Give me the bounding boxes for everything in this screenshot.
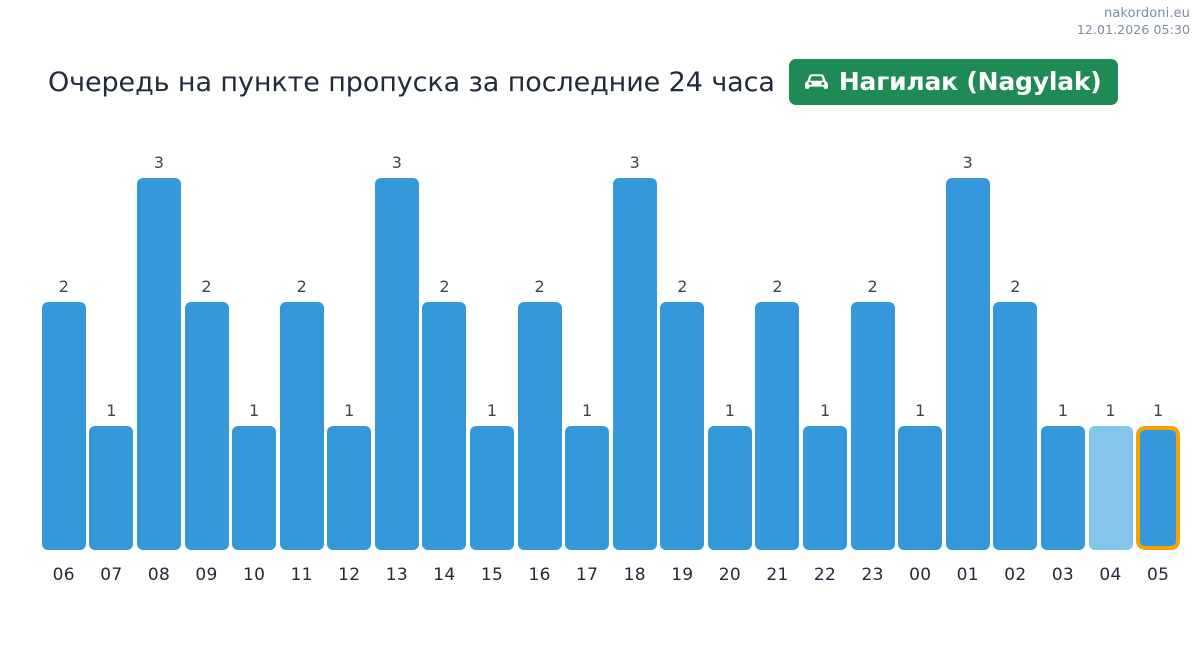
- bar-value-label: 1: [725, 403, 735, 419]
- bar-slot[interactable]: 2: [754, 138, 802, 550]
- x-axis-tick: 16: [516, 565, 564, 585]
- x-axis-tick: 06: [40, 565, 88, 585]
- x-axis-tick: 04: [1087, 565, 1135, 585]
- bar[interactable]: [185, 302, 229, 550]
- x-axis-tick: 12: [325, 565, 373, 585]
- x-axis-tick: 11: [278, 565, 326, 585]
- bar-value-label: 1: [1058, 403, 1068, 419]
- bar-slot[interactable]: 1: [325, 138, 373, 550]
- bar-value-label: 2: [677, 279, 687, 295]
- header-row: Очередь на пункте пропуска за последние …: [48, 58, 1160, 106]
- bar-slot[interactable]: 2: [421, 138, 469, 550]
- bar-value-label: 2: [297, 279, 307, 295]
- bar-slot[interactable]: 1: [801, 138, 849, 550]
- bar[interactable]: [851, 302, 895, 550]
- bar-slot[interactable]: 1: [230, 138, 278, 550]
- bar-value-label: 3: [392, 155, 402, 171]
- bar-slot[interactable]: 2: [40, 138, 88, 550]
- checkpoint-name: Нагилак (Nagylak): [839, 67, 1102, 96]
- bar-value-label: 2: [868, 279, 878, 295]
- bar[interactable]: [375, 178, 419, 550]
- bar-value-label: 2: [772, 279, 782, 295]
- bar-slot[interactable]: 1: [1039, 138, 1087, 550]
- x-axis-tick: 14: [421, 565, 469, 585]
- bar-chart-plot: 213212132121321212132111: [40, 130, 1182, 550]
- bar[interactable]: [42, 302, 86, 550]
- bar[interactable]: [898, 426, 942, 550]
- bar-value-label: 1: [487, 403, 497, 419]
- bar-slot[interactable]: 2: [278, 138, 326, 550]
- bar[interactable]: [803, 426, 847, 550]
- x-axis-tick: 10: [230, 565, 278, 585]
- bar-value-label: 1: [820, 403, 830, 419]
- bar-slot[interactable]: 1: [563, 138, 611, 550]
- bar[interactable]: [89, 426, 133, 550]
- bar[interactable]: [137, 178, 181, 550]
- x-axis-tick: 19: [659, 565, 707, 585]
- bar-value-label: 2: [1010, 279, 1020, 295]
- x-axis-tick: 01: [944, 565, 992, 585]
- bar[interactable]: [660, 302, 704, 550]
- x-axis-tick: 13: [373, 565, 421, 585]
- x-axis-tick: 20: [706, 565, 754, 585]
- bar-slot[interactable]: 1: [1087, 138, 1135, 550]
- bar-series: 213212132121321212132111: [40, 138, 1182, 550]
- bar-value-label: 1: [582, 403, 592, 419]
- bar-slot[interactable]: 1: [706, 138, 754, 550]
- bar-slot[interactable]: 2: [849, 138, 897, 550]
- bar-slot[interactable]: 3: [944, 138, 992, 550]
- bar-slot[interactable]: 3: [135, 138, 183, 550]
- bar-slot[interactable]: 2: [516, 138, 564, 550]
- x-axis: 0607080910111213141516171819202122230001…: [40, 565, 1182, 585]
- bar-value-label: 3: [963, 155, 973, 171]
- x-axis-tick: 09: [183, 565, 231, 585]
- bar-slot[interactable]: 2: [659, 138, 707, 550]
- x-axis-tick: 03: [1039, 565, 1087, 585]
- checkpoint-badge[interactable]: Нагилак (Nagylak): [789, 59, 1118, 105]
- bar[interactable]: [946, 178, 990, 550]
- bar[interactable]: [232, 426, 276, 550]
- bar-slot[interactable]: 2: [992, 138, 1040, 550]
- bar-value-label: 3: [154, 155, 164, 171]
- bar-value-label: 3: [630, 155, 640, 171]
- bar[interactable]: [1089, 426, 1133, 550]
- bar[interactable]: [1041, 426, 1085, 550]
- bar-value-label: 1: [106, 403, 116, 419]
- bar-slot[interactable]: 2: [183, 138, 231, 550]
- bar-slot[interactable]: 3: [611, 138, 659, 550]
- bar-value-label: 1: [249, 403, 259, 419]
- bar[interactable]: [993, 302, 1037, 550]
- x-axis-tick: 22: [801, 565, 849, 585]
- timestamp: 12.01.2026 05:30: [1077, 22, 1190, 38]
- bar-value-label: 2: [201, 279, 211, 295]
- bar-slot[interactable]: 1: [88, 138, 136, 550]
- bar-value-label: 2: [439, 279, 449, 295]
- site-name: nakordoni.eu: [1077, 6, 1190, 22]
- bar-slot[interactable]: 3: [373, 138, 421, 550]
- x-axis-tick: 02: [992, 565, 1040, 585]
- bar[interactable]: [755, 302, 799, 550]
- bar[interactable]: [565, 426, 609, 550]
- bar[interactable]: [613, 178, 657, 550]
- x-axis-tick: 08: [135, 565, 183, 585]
- bar[interactable]: [422, 302, 466, 550]
- page-title: Очередь на пункте пропуска за последние …: [48, 67, 775, 98]
- bar-slot[interactable]: 1: [1134, 138, 1182, 550]
- x-axis-tick: 21: [754, 565, 802, 585]
- x-axis-tick: 05: [1134, 565, 1182, 585]
- x-axis-tick: 17: [563, 565, 611, 585]
- x-axis-tick: 00: [896, 565, 944, 585]
- bar-value-label: 1: [1105, 403, 1115, 419]
- x-axis-tick: 18: [611, 565, 659, 585]
- car-icon: [803, 72, 830, 92]
- bar-value-label: 2: [59, 279, 69, 295]
- bar[interactable]: [708, 426, 752, 550]
- x-axis-tick: 07: [88, 565, 136, 585]
- bar-value-label: 2: [534, 279, 544, 295]
- chart-page: nakordoni.eu 12.01.2026 05:30 Очередь на…: [0, 0, 1200, 651]
- bar[interactable]: [470, 426, 514, 550]
- bar[interactable]: [280, 302, 324, 550]
- bar-value-label: 1: [344, 403, 354, 419]
- x-axis-tick: 23: [849, 565, 897, 585]
- bar[interactable]: [518, 302, 562, 550]
- bar-slot[interactable]: 1: [468, 138, 516, 550]
- page-meta: nakordoni.eu 12.01.2026 05:30: [1077, 6, 1190, 38]
- bar-slot[interactable]: 1: [896, 138, 944, 550]
- bar-value-label: 1: [1153, 403, 1163, 419]
- bar-value-label: 1: [915, 403, 925, 419]
- bar-current-hour[interactable]: [1136, 426, 1180, 550]
- x-axis-tick: 15: [468, 565, 516, 585]
- bar[interactable]: [327, 426, 371, 550]
